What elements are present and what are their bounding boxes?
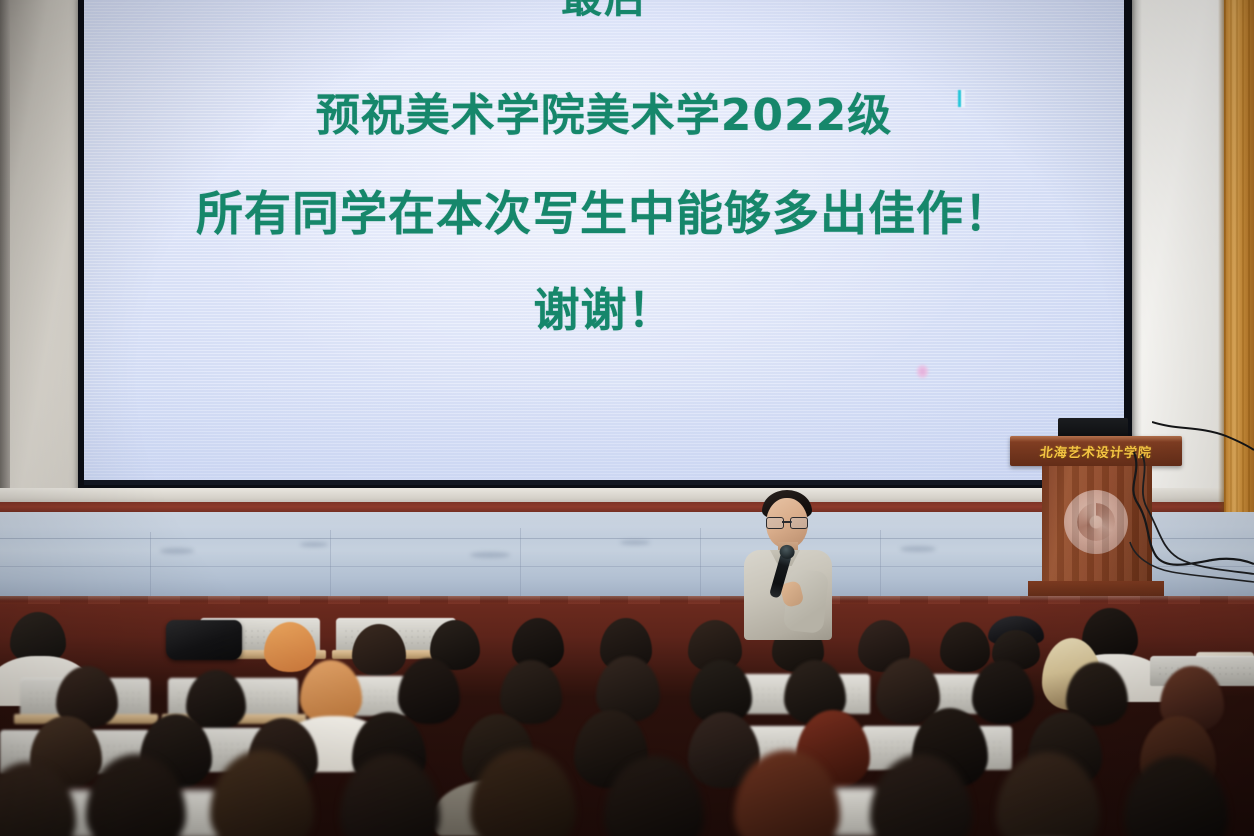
spiral-icon xyxy=(1077,503,1115,541)
floor-seam xyxy=(150,532,151,602)
glasses-icon xyxy=(766,517,808,527)
floor-seam xyxy=(880,530,881,602)
projection-screen: 最后 预祝美术学院美术学2022级 所有同学在本次写生中能够多出佳作！ 谢谢！ xyxy=(84,0,1124,480)
slide-line-4: 谢谢！ xyxy=(534,274,675,340)
slide-heading: 最后 xyxy=(561,0,647,19)
stage-front-highlight xyxy=(0,596,1254,601)
pink-light-artifact xyxy=(916,364,929,379)
floor-smudge xyxy=(900,546,936,552)
spiral-seal-emblem xyxy=(1064,490,1128,554)
auditorium-photo: 最后 预祝美术学院美术学2022级 所有同学在本次写生中能够多出佳作！ 谢谢！ xyxy=(0,0,1254,836)
floor-seam xyxy=(520,528,521,602)
left-wall-edge xyxy=(0,0,10,512)
audience-area xyxy=(0,604,1254,836)
presenter-person xyxy=(726,486,846,638)
backpack xyxy=(166,620,242,660)
floor-smudge xyxy=(300,542,328,547)
av-cables xyxy=(1120,452,1254,602)
left-wall xyxy=(0,0,84,512)
slide-line-3: 所有同学在本次写生中能够多出佳作！ xyxy=(196,175,1012,244)
floor-seam xyxy=(330,530,331,602)
glasses-lens-right xyxy=(790,517,808,529)
floor-smudge xyxy=(470,552,510,558)
floor-smudge xyxy=(620,540,650,545)
floor-seam xyxy=(700,528,701,602)
slide-line-2: 预祝美术学院美术学2022级 xyxy=(316,79,892,143)
slide-content: 最后 预祝美术学院美术学2022级 所有同学在本次写生中能够多出佳作！ 谢谢！ xyxy=(84,0,1124,480)
ceiling-cable xyxy=(1152,420,1254,460)
floor-smudge xyxy=(160,548,194,554)
glasses-lens-left xyxy=(766,517,784,529)
cyan-cursor-artifact xyxy=(958,90,965,107)
